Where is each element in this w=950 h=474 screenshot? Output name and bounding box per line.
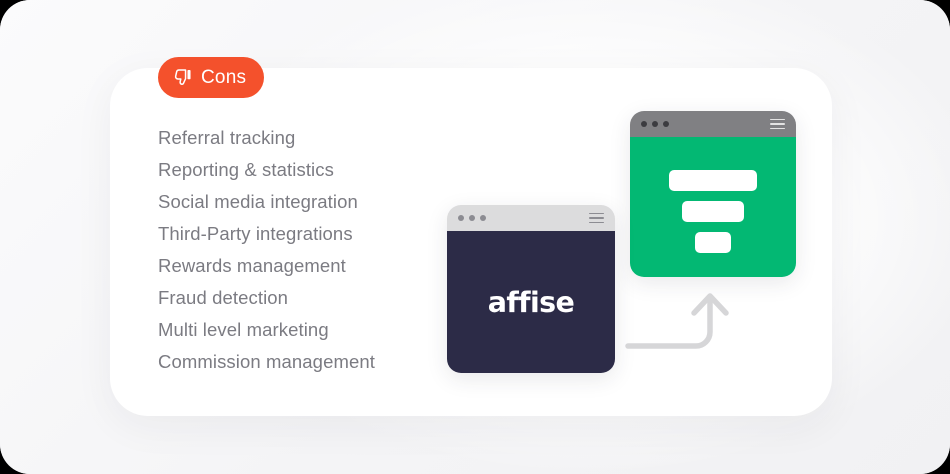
list-item: Reporting & statistics [158,154,458,186]
affise-logo: affise [488,286,575,319]
cons-badge-label: Cons [201,68,246,88]
affise-card-body: affise [447,231,615,373]
screenshot-root: Cons Referral tracking Reporting & stati… [0,0,950,474]
hamburger-menu-icon[interactable] [589,213,604,224]
funnel-bar-middle [682,201,744,222]
list-item: Third-Party integrations [158,218,458,250]
list-item: Fraud detection [158,282,458,314]
funnel-bar-bottom [695,232,731,253]
cons-list: Referral tracking Reporting & statistics… [158,122,458,378]
funnel-browser-card[interactable] [630,111,796,277]
affise-card-titlebar [447,205,615,231]
list-item: Commission management [158,346,458,378]
window-dots-icon [641,121,669,127]
cons-badge[interactable]: Cons [158,57,264,98]
list-item: Multi level marketing [158,314,458,346]
hamburger-menu-icon[interactable] [770,119,785,130]
funnel-card-titlebar [630,111,796,137]
window-dots-icon [458,215,486,221]
elbow-arrow-up-icon [620,286,740,356]
funnel-card-body [630,137,796,277]
affise-browser-card[interactable]: affise [447,205,615,373]
funnel-bar-top [669,170,757,191]
list-item: Social media integration [158,186,458,218]
list-item: Referral tracking [158,122,458,154]
thumbs-down-icon [174,68,193,87]
list-item: Rewards management [158,250,458,282]
